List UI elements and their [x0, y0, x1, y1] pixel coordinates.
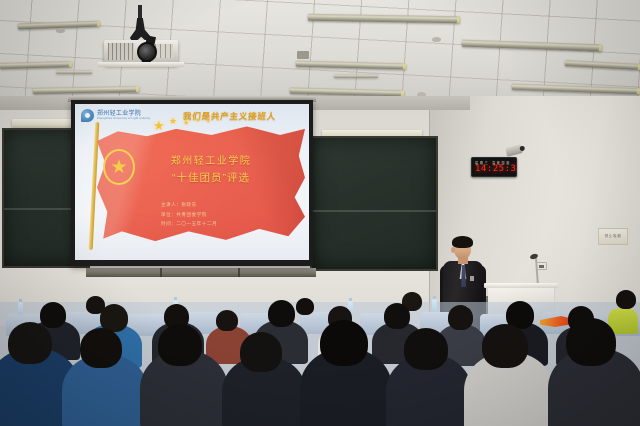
- slide-title-line1: 郑州轻工业学院: [147, 154, 275, 170]
- person-head: [296, 298, 314, 315]
- projector-ceiling-plate: [98, 62, 184, 67]
- university-logo-icon: [81, 109, 94, 122]
- projector-vent: [155, 44, 173, 58]
- wall-plaque-text: 禁止吸烟: [605, 234, 622, 239]
- star-icon: ★: [195, 117, 200, 124]
- slide-title-line2: “十佳团员”评选: [147, 170, 275, 186]
- blackboard-middle: [310, 136, 438, 271]
- slide-logo-text-en: Zhengzhou University of Light Industry: [97, 117, 150, 121]
- wall-power-outlet[interactable]: [536, 262, 547, 270]
- person-head: [80, 328, 122, 368]
- person-head: [448, 305, 473, 330]
- water-bottle: [18, 302, 23, 315]
- slide-meta-line3: 时间：二〇一五年十二月: [161, 219, 217, 229]
- led-clock: 星期三 温度湿度 14:25:39: [471, 157, 517, 177]
- person-head: [240, 332, 282, 372]
- projection-screen: 郑州轻工业学院 Zhengzhou University of Light In…: [75, 104, 309, 260]
- person-head: [566, 318, 616, 366]
- presenter-hair: [452, 236, 473, 248]
- water-bottle: [432, 299, 437, 312]
- smoke-detector: [432, 37, 441, 42]
- star-icon: ★: [153, 118, 165, 134]
- star-icon: ★: [206, 119, 210, 125]
- slide-metadata: 主讲人：张晓东 单位：共青团委学院 时间：二〇一五年十二月: [161, 200, 217, 229]
- slide-university-logo: 郑州轻工业学院 Zhengzhou University of Light In…: [81, 109, 150, 122]
- slide-meta-line2: 单位：共青团委学院: [161, 210, 217, 220]
- ceiling-light-fixture: [334, 74, 378, 78]
- youth-league-emblem: ★: [103, 149, 135, 185]
- wall-plaque: 禁止吸烟: [598, 228, 628, 245]
- presenter-ear: [451, 247, 455, 253]
- person-head: [8, 322, 52, 364]
- person-head: [268, 300, 295, 327]
- smoke-detector: [56, 28, 65, 33]
- slide-main-title: 郑州轻工业学院 “十佳团员”评选: [147, 154, 275, 186]
- person-head: [158, 324, 202, 366]
- person-head: [40, 302, 66, 328]
- classroom-photo: 郑州轻工业学院 Zhengzhou University of Light In…: [0, 0, 640, 426]
- blackboard-divider: [312, 210, 436, 212]
- star-icon: ★: [216, 117, 220, 122]
- ceiling-light-fixture: [56, 70, 92, 74]
- projection-screen-frame: 郑州轻工业学院 Zhengzhou University of Light In…: [71, 100, 313, 266]
- projector-vent: [108, 43, 134, 60]
- person-head: [384, 303, 410, 329]
- ceiling-mount-bracket: [297, 51, 309, 59]
- ceiling: [0, 0, 640, 102]
- person-head: [616, 290, 636, 309]
- led-clock-digits: 14:25:39: [475, 165, 513, 174]
- slide-meta-line1: 主讲人：张晓东: [161, 200, 217, 210]
- chalk-tray-seam: [238, 268, 240, 277]
- person-head: [320, 320, 368, 366]
- person-head: [482, 324, 528, 368]
- star-icon: ★: [183, 119, 189, 127]
- chalk-tray: [86, 268, 316, 277]
- presenter-lapel-badge: [470, 276, 474, 281]
- chalk-tray-seam: [160, 268, 162, 277]
- projector-lens-icon: [137, 42, 157, 62]
- audience: [0, 286, 640, 426]
- star-icon: ★: [110, 158, 127, 177]
- person-head: [404, 328, 448, 370]
- star-icon: ★: [169, 116, 177, 127]
- slide-star-decorations: ★ ★ ★ ★ ★ ★: [153, 116, 233, 134]
- person-head: [216, 310, 238, 331]
